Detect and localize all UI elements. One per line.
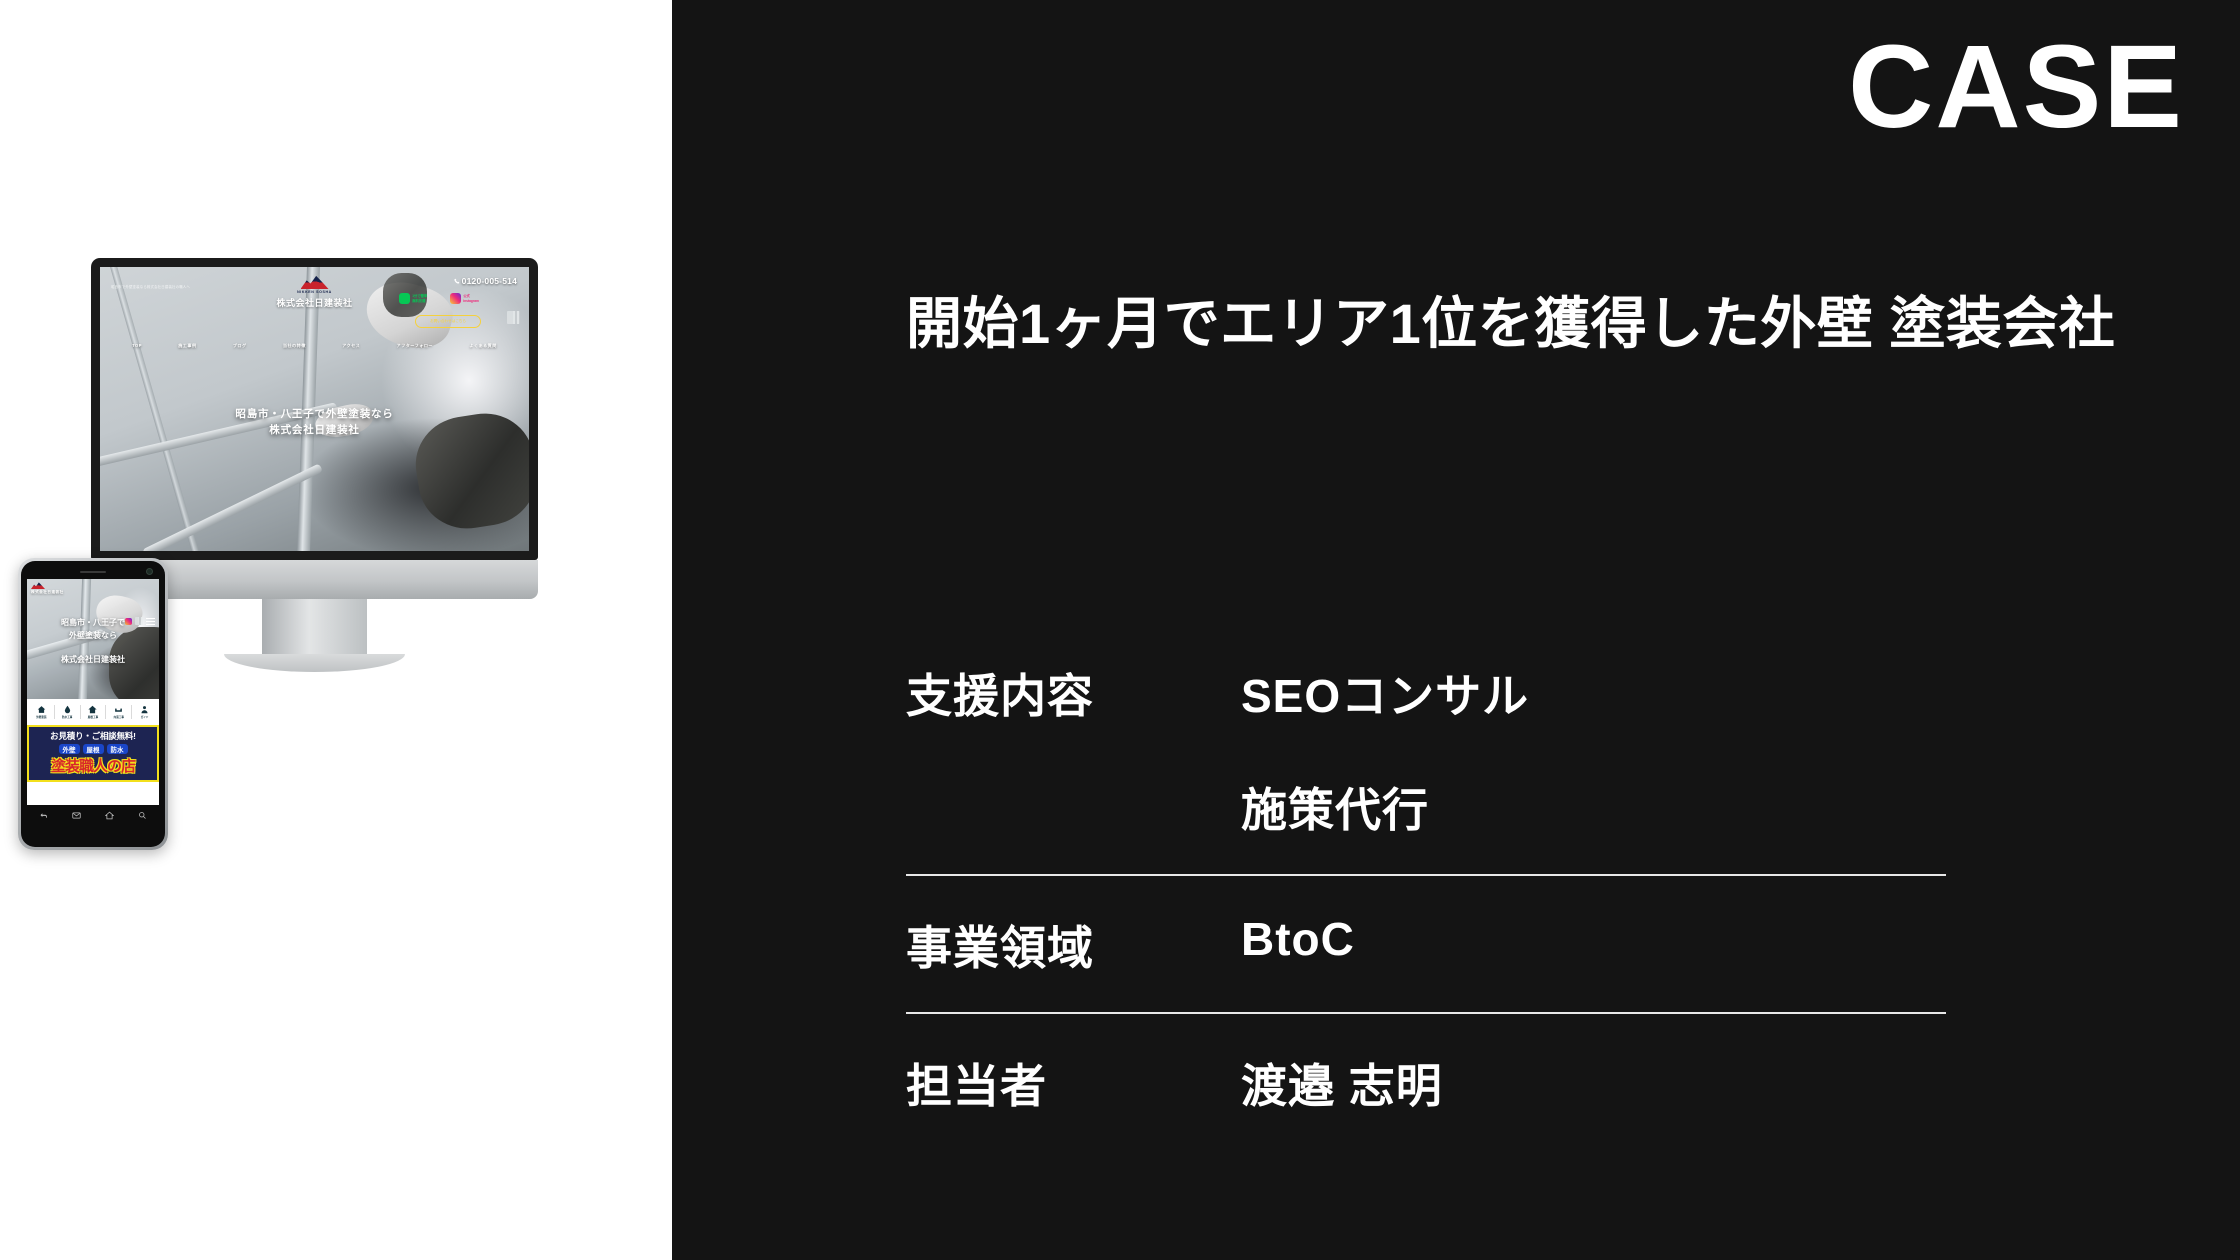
house-icon: [37, 705, 46, 714]
mobile-phone-mockup: 株式会社日建装社 昭島市・八王子で 外壁塗装なら 株式会社日建装社: [18, 558, 168, 850]
logo-romaji: NIKKEN SOSHA: [276, 290, 352, 294]
info-label-person: 担当者: [906, 1050, 1241, 1116]
site-navigation: TOP 施工事例 ブログ 当社の特徴 アクセス アフターフォロー よくある質問: [100, 343, 529, 349]
monitor-screen: 昭島市で外壁塗装なら株式会社日建装社の職人へ NIKKEN SOSHA 株式会社…: [100, 267, 529, 551]
hero-headline-line-2: 株式会社日建装社: [269, 424, 359, 436]
mail-icon: [72, 811, 81, 820]
monitor-bezel: 昭島市で外壁塗装なら株式会社日建装社の職人へ NIKKEN SOSHA 株式会社…: [91, 258, 538, 560]
table-row: 支援内容 SEOコンサル 施策代行: [906, 660, 1956, 874]
info-label-support: 支援内容: [906, 660, 1241, 726]
mobile-hero-line-2: 外壁塗装なら: [69, 631, 117, 640]
nav-item-top[interactable]: TOP: [132, 343, 142, 349]
site-social-links: 1分で簡単 無料見積 公式 Instagram: [399, 293, 479, 304]
case-content-panel: CASE 開始1ヶ月でエリア1位を獲得した外壁 塗装会社 支援内容 SEOコンサ…: [672, 0, 2240, 1260]
promo-banner-brand: 塗装職人の店: [31, 755, 155, 776]
instagram-icon: [450, 293, 461, 304]
sofa-icon: [114, 705, 123, 714]
mobile-hero-section: 株式会社日建装社 昭島市・八王子で 外壁塗装なら 株式会社日建装社: [27, 579, 159, 699]
phone-speaker-icon: [80, 571, 106, 573]
info-label-domain: 事業領域: [906, 912, 1241, 978]
mobile-logo-company-name: 株式会社日建装社: [31, 590, 64, 595]
site-phone-number[interactable]: 0120-005-514: [454, 276, 517, 286]
monitor-stand-neck: [262, 599, 367, 657]
mobile-promo-banner[interactable]: お見積り・ご相談無料! 外壁 屋根 防水 塗装職人の店: [27, 725, 159, 782]
contact-cta-button[interactable]: お問い合わせはこちら: [415, 315, 481, 328]
site-phone-text: 0120-005-514: [462, 276, 517, 286]
roof-icon: [88, 705, 97, 714]
quick-link-guide[interactable]: ガイド: [132, 705, 157, 719]
qr-code-icon: [507, 311, 520, 324]
table-row: 担当者 渡邉 志明: [906, 1014, 1956, 1126]
line-icon: [399, 293, 410, 304]
nav-item-faq[interactable]: よくある質問: [469, 343, 497, 349]
mobile-quick-links: 外壁塗装 防水工事 屋根工事 内装工事: [27, 699, 159, 725]
nav-item-access[interactable]: アクセス: [342, 343, 360, 349]
page-title-line-2: 塗装会社: [1889, 292, 2115, 355]
site-logo[interactable]: NIKKEN SOSHA 株式会社日建装社: [276, 275, 352, 309]
mobile-site-logo[interactable]: 株式会社日建装社: [31, 582, 64, 595]
android-navigation-bar: [27, 805, 159, 825]
info-value-support: SEOコンサル 施策代行: [1241, 660, 1529, 840]
status-badge: 屋根: [83, 744, 104, 754]
quick-link-waterproof[interactable]: 防水工事: [55, 705, 81, 719]
info-value-support-primary: SEOコンサル: [1241, 670, 1529, 722]
logo-company-name: 株式会社日建装社: [276, 296, 352, 309]
phone-screen: 株式会社日建装社 昭島市・八王子で 外壁塗装なら 株式会社日建装社: [27, 579, 159, 825]
hero-headline-line-1: 昭島市・八王子で外壁塗装なら: [235, 408, 393, 420]
hero-headline: 昭島市・八王子で外壁塗装なら 株式会社日建装社: [100, 407, 529, 439]
nav-item-features[interactable]: 当社の特徴: [283, 343, 306, 349]
instagram-label-2: Instagram: [463, 299, 479, 303]
status-badge: 外壁: [59, 744, 80, 754]
back-icon: [39, 811, 48, 820]
person-icon: [140, 705, 149, 714]
status-badge: 防水: [107, 744, 128, 754]
nav-item-works[interactable]: 施工事例: [178, 343, 196, 349]
water-drop-icon: [63, 705, 72, 714]
phone-camera-icon: [146, 568, 153, 575]
promo-banner-headline: お見積り・ご相談無料!: [31, 730, 155, 742]
line-label-2: 無料見積: [412, 299, 425, 303]
mobile-hero-line-3: 株式会社日建装社: [27, 654, 159, 667]
company-logo-mark-icon: [31, 582, 45, 589]
table-row: 事業領域 BtoC: [906, 876, 1956, 1012]
line-link[interactable]: 1分で簡単 無料見積: [399, 293, 427, 304]
company-logo-mark-icon: [300, 275, 328, 289]
instagram-label: 公式 Instagram: [463, 294, 479, 303]
quick-link-exterior-label: 外壁塗装: [29, 715, 54, 719]
quick-link-roof[interactable]: 屋根工事: [81, 705, 107, 719]
section-eyebrow-case: CASE: [1848, 28, 2184, 146]
quick-link-exterior[interactable]: 外壁塗装: [29, 705, 55, 719]
instagram-label-1: 公式: [463, 294, 470, 298]
instagram-link[interactable]: 公式 Instagram: [450, 293, 479, 304]
search-icon: [138, 811, 147, 820]
line-label-1: 1分で簡単: [412, 294, 427, 298]
quick-link-roof-label: 屋根工事: [81, 715, 106, 719]
nav-item-follow[interactable]: アフターフォロー: [397, 343, 434, 349]
home-icon: [105, 811, 114, 820]
info-value-support-secondary: 施策代行: [1241, 774, 1529, 840]
quick-link-interior[interactable]: 内装工事: [106, 705, 132, 719]
page-title: 開始1ヶ月でエリア1位を獲得した外壁 塗装会社: [906, 288, 2176, 360]
line-label: 1分で簡単 無料見積: [412, 294, 427, 303]
site-header: 昭島市で外壁塗装なら株式会社日建装社の職人へ NIKKEN SOSHA 株式会社…: [100, 267, 529, 274]
page-title-line-1: 開始1ヶ月でエリア1位を獲得した外壁: [906, 292, 1873, 355]
quick-link-guide-label: ガイド: [132, 715, 157, 719]
case-info-table: 支援内容 SEOコンサル 施策代行 事業領域 BtoC 担当者 渡邉 志明: [906, 660, 1956, 1126]
nav-item-blog[interactable]: ブログ: [233, 343, 247, 349]
phone-icon: [454, 278, 460, 284]
mobile-hero-line-1: 昭島市・八王子で: [61, 618, 125, 627]
info-value-person: 渡邉 志明: [1241, 1050, 1443, 1116]
phone-bezel: 株式会社日建装社 昭島市・八王子で 外壁塗装なら 株式会社日建装社: [21, 561, 165, 847]
site-tagline: 昭島市で外壁塗装なら株式会社日建装社の職人へ: [111, 284, 190, 289]
promo-banner-badges: 外壁 屋根 防水: [31, 744, 155, 754]
info-value-domain: BtoC: [1241, 912, 1355, 966]
phone-frame: 株式会社日建装社 昭島市・八王子で 外壁塗装なら 株式会社日建装社: [18, 558, 168, 850]
mobile-hero-headline: 昭島市・八王子で 外壁塗装なら 株式会社日建装社: [27, 617, 159, 666]
quick-link-waterproof-label: 防水工事: [55, 715, 80, 719]
quick-link-interior-label: 内装工事: [106, 715, 131, 719]
